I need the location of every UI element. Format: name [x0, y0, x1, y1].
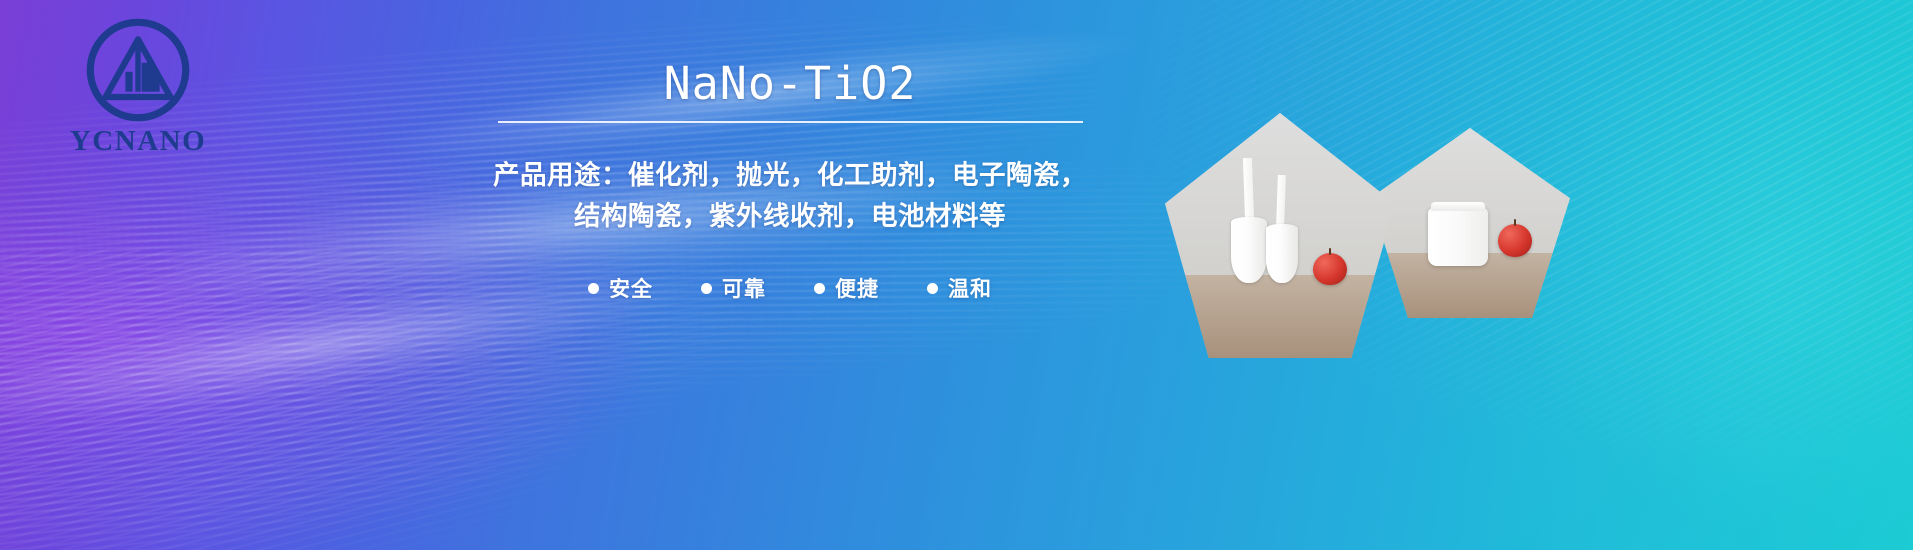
feature-item-mild: 温和	[927, 273, 992, 303]
triangle-mountain-in-circle-icon	[84, 16, 192, 124]
red-apple	[1313, 253, 1347, 285]
product-usage-text: 产品用途：催化剂，抛光，化工助剂，电子陶瓷， 结构陶瓷，紫外线收剂，电池材料等	[480, 155, 1100, 237]
feature-label: 便捷	[835, 273, 879, 303]
logo-wordmark: YCNANO	[48, 125, 228, 158]
feature-label: 可靠	[722, 273, 766, 303]
feature-item-convenient: 便捷	[814, 273, 879, 303]
company-logo[interactable]: YCNANO	[48, 16, 228, 158]
dot-icon	[927, 283, 938, 294]
feature-item-reliable: 可靠	[701, 273, 766, 303]
product-title: NaNo-TiO2	[480, 60, 1100, 107]
usage-line-2: 结构陶瓷，紫外线收剂，电池材料等	[480, 196, 1100, 237]
dot-icon	[701, 283, 712, 294]
product-banner: YCNANO NaNo-TiO2 产品用途：催化剂，抛光，化工助剂，电子陶瓷， …	[0, 0, 1913, 550]
feature-label: 温和	[948, 273, 992, 303]
apple-stem	[1514, 219, 1516, 226]
banner-content: NaNo-TiO2 产品用途：催化剂，抛光，化工助剂，电子陶瓷， 结构陶瓷，紫外…	[480, 60, 1100, 303]
title-divider	[498, 121, 1083, 123]
jar-lid	[1431, 202, 1485, 211]
short-vase-body	[1266, 224, 1298, 283]
red-apple	[1498, 224, 1532, 257]
usage-line-1: 产品用途：催化剂，抛光，化工助剂，电子陶瓷，	[480, 155, 1100, 196]
apple-stem	[1329, 248, 1331, 255]
dot-icon	[814, 283, 825, 294]
feature-list: 安全 可靠 便捷 温和	[480, 273, 1100, 303]
feature-item-safe: 安全	[588, 273, 653, 303]
white-jar	[1428, 208, 1488, 266]
dot-icon	[588, 283, 599, 294]
tall-vase-body	[1231, 217, 1267, 283]
feature-label: 安全	[609, 273, 653, 303]
